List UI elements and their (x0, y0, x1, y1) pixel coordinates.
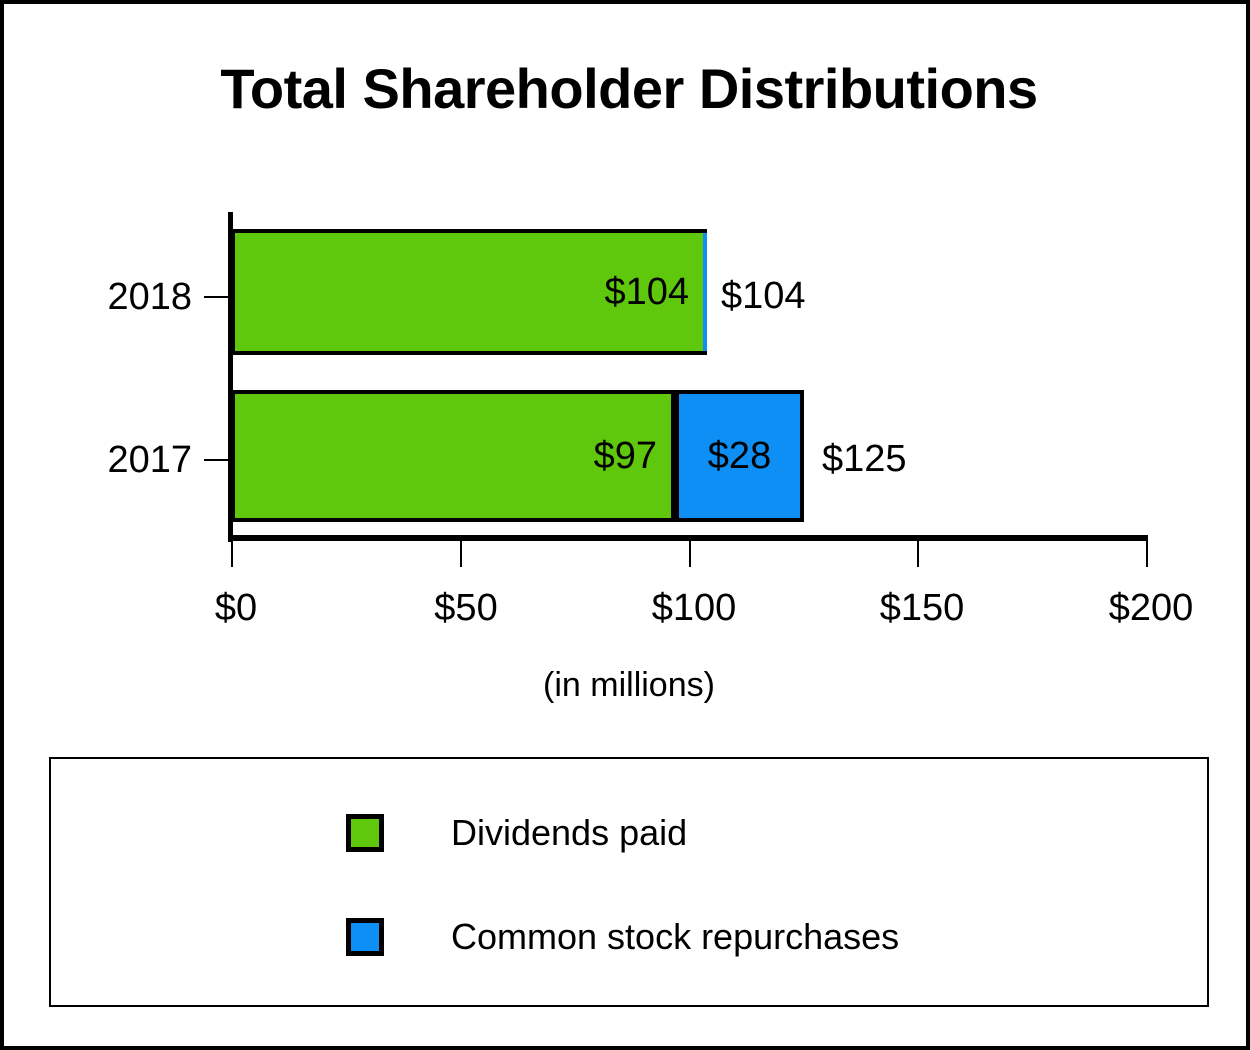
y-tick-2018 (204, 296, 230, 298)
x-tick-50 (460, 541, 462, 567)
bar-2018-total-label: $104 (721, 277, 806, 315)
x-tick-150 (917, 541, 919, 567)
y-tick-2017 (204, 459, 230, 461)
bar-2017-repurchases-value: $28 (708, 437, 771, 475)
legend: Dividends paid Common stock repurchases (49, 757, 1209, 1007)
x-axis-line (228, 535, 1148, 541)
x-tick-label-200: $200 (1109, 589, 1194, 627)
bar-2017-dividends[interactable]: $97 (231, 390, 675, 522)
legend-swatch-blue-icon (346, 918, 384, 956)
bar-2018-repurchases[interactable] (703, 233, 707, 351)
x-tick-label-100: $100 (652, 589, 737, 627)
legend-swatch-green-icon (346, 814, 384, 852)
x-tick-100 (689, 541, 691, 567)
bar-2017-total-label: $125 (822, 440, 907, 478)
bar-2018-dividends[interactable]: $104 (231, 229, 707, 355)
x-tick-label-0: $0 (215, 589, 257, 627)
x-axis-caption: (in millions) (4, 666, 1250, 705)
legend-label-repurchases: Common stock repurchases (451, 919, 899, 955)
x-tick-0 (231, 541, 233, 567)
y-tick-label-2017: 2017 (62, 441, 192, 479)
legend-label-dividends: Dividends paid (451, 815, 687, 851)
x-tick-200 (1146, 541, 1148, 567)
legend-item-repurchases[interactable]: Common stock repurchases (346, 918, 899, 956)
x-tick-label-50: $50 (434, 589, 497, 627)
bar-2017-repurchases[interactable]: $28 (675, 390, 804, 522)
x-tick-label-150: $150 (880, 589, 965, 627)
bar-2017-dividends-value: $97 (594, 437, 671, 475)
legend-item-dividends[interactable]: Dividends paid (346, 814, 687, 852)
chart-figure: Total Shareholder Distributions 2018 201… (0, 0, 1250, 1050)
y-tick-label-2018: 2018 (62, 278, 192, 316)
bar-2018-dividends-value: $104 (604, 273, 703, 311)
